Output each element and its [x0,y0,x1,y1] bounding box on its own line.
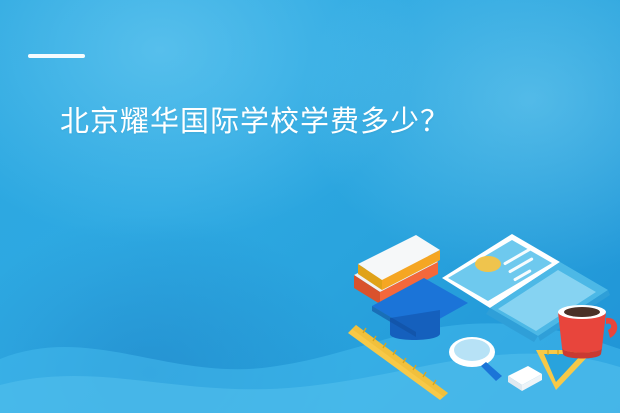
magnifier-icon [449,337,502,381]
banner: 北京耀华国际学校学费多少？ [0,0,620,413]
coffee-mug-icon [558,305,617,359]
eraser-icon [508,366,542,391]
page-title: 北京耀华国际学校学费多少？ [60,102,450,142]
title-accent-bar [28,54,85,58]
study-desk-illustration [320,200,620,400]
